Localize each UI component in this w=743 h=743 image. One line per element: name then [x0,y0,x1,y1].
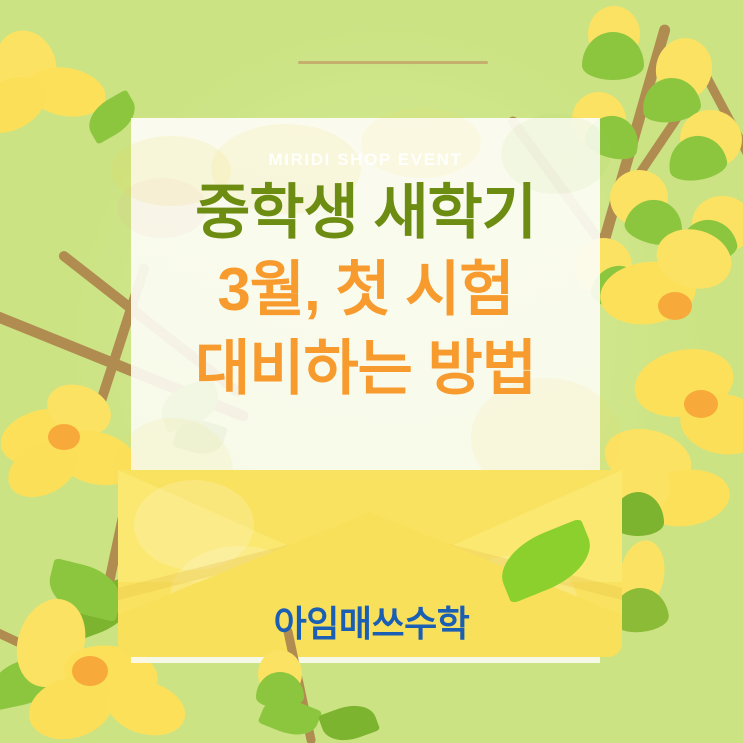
flower-center [684,390,718,418]
decorative-rule [298,61,488,64]
headline-group: MIRIDI SHOP EVENT 중학생 새학기 3월, 첫 시험 대비하는 … [131,150,600,408]
brand-name: 아임매쓰수학 [0,595,743,647]
poster-canvas: MIRIDI SHOP EVENT 중학생 새학기 3월, 첫 시험 대비하는 … [0,0,743,743]
headline-line-1: 중학생 새학기 [131,176,600,249]
headline-line-3: 대비하는 방법 [131,329,600,408]
flower-center [658,292,692,320]
headline-line-2: 3월, 첫 시험 [131,250,600,329]
eyebrow-text: MIRIDI SHOP EVENT [131,150,600,170]
